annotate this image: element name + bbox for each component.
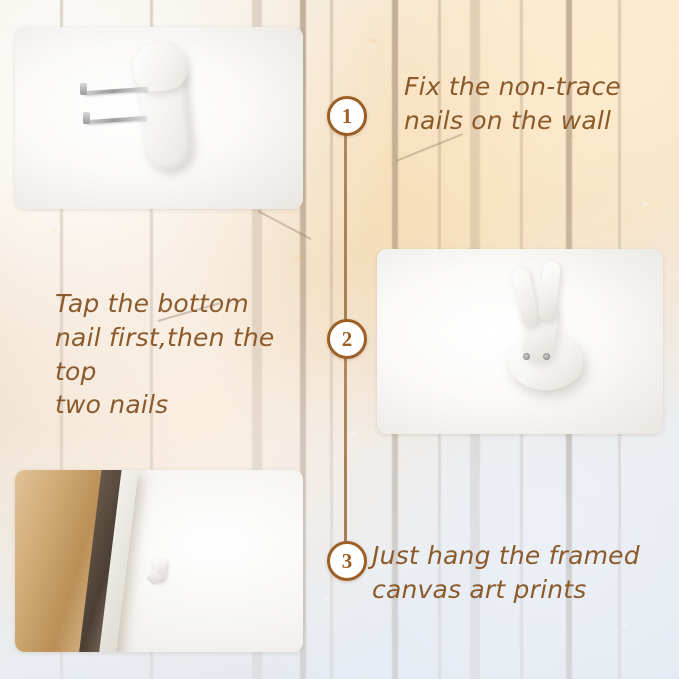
step-caption-1-line2: nails on the wall [404,104,654,138]
step-caption-2-line2: nail first,then the top [55,321,315,389]
step-caption-2-line1: Tap the bottom [55,287,315,321]
step-caption-2-line3: two nails [55,388,315,422]
step-caption-2: Tap the bottom nail first,then the top t… [55,287,315,422]
step-badge-3: 3 [327,541,367,581]
nail-pin-cap-upper [80,83,87,95]
hook-screw-left [523,353,530,360]
step-connector-line [344,353,347,551]
step-caption-1: Fix the non-trace nails on the wall [404,70,654,138]
nail-pin-cap-lower [83,112,90,124]
instruction-infographic: 1 Fix the non-trace nails on the wall 2 … [0,0,679,679]
photo-nail-on-wall [15,27,303,209]
step-badge-2: 2 [327,319,367,359]
step-caption-3-line1: Just hang the framed [372,539,662,573]
step-badge-1: 1 [327,96,367,136]
photo-bunny-hook [377,249,663,434]
hook-screw-right [543,353,550,360]
photo-framed-canvas [15,470,303,652]
step-caption-3: Just hang the framed canvas art prints [372,539,662,607]
step-connector-line [344,122,347,337]
step-caption-3-line2: canvas art prints [372,573,662,607]
step-caption-1-line1: Fix the non-trace [404,70,654,104]
